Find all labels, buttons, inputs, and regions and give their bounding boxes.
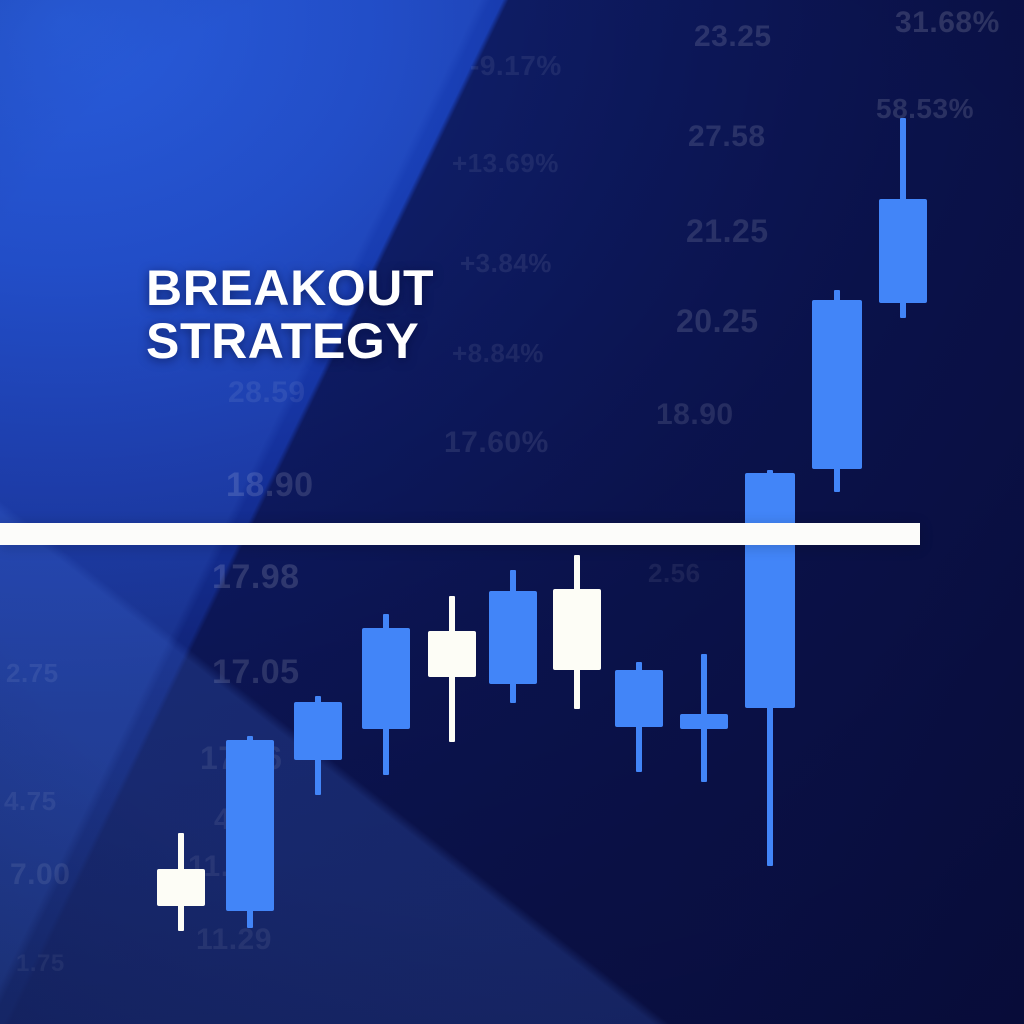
candlestick	[553, 555, 601, 709]
candlestick-body	[745, 473, 795, 708]
candlestick-body	[294, 702, 342, 760]
candlestick-body	[615, 670, 663, 727]
candlestick-body	[680, 714, 728, 729]
candlestick-body	[362, 628, 410, 729]
title-line-2: STRATEGY	[146, 315, 666, 368]
candlestick-body	[157, 869, 205, 906]
candlestick-body	[812, 300, 862, 469]
candlestick	[428, 596, 476, 742]
candlestick	[226, 736, 274, 928]
candlestick	[879, 118, 927, 318]
candlestick	[294, 696, 342, 795]
candlestick	[812, 290, 862, 492]
candlestick-body	[489, 591, 537, 684]
poster-canvas: 23.2531.68%-9.17%27.5858.53%+13.69%21.25…	[0, 0, 1024, 1024]
candlestick	[157, 833, 205, 931]
candlestick-body	[879, 199, 927, 303]
candlestick-chart	[0, 0, 1024, 1024]
title-line-1: BREAKOUT	[146, 262, 666, 315]
candlestick	[489, 570, 537, 703]
candlestick	[680, 654, 728, 782]
candlestick	[362, 614, 410, 775]
candlestick-body	[553, 589, 601, 670]
page-title: BREAKOUT STRATEGY	[146, 262, 666, 368]
candlestick-body	[428, 631, 476, 677]
candlestick	[615, 662, 663, 772]
candlestick-body	[226, 740, 274, 911]
breakout-resistance-line	[0, 523, 920, 545]
